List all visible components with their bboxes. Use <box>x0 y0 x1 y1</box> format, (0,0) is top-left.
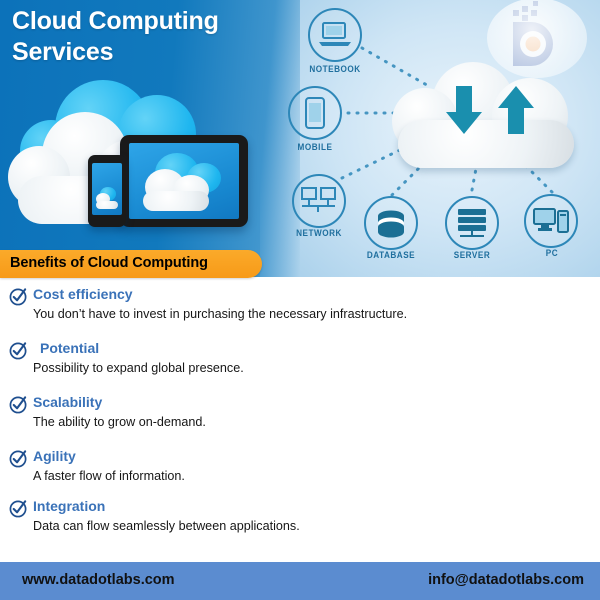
check-circle-icon <box>9 499 28 518</box>
mobile-label: MOBILE <box>268 142 363 153</box>
benefit-item: Potential Possibility to expand global p… <box>0 340 600 394</box>
cloud-sync-arrows-icon <box>446 84 536 146</box>
benefits-banner: Benefits of Cloud Computing <box>0 250 262 278</box>
benefit-title: Agility <box>0 448 600 464</box>
server-icon <box>455 208 489 240</box>
check-circle-icon <box>9 449 28 468</box>
laptop-icon <box>319 22 351 48</box>
central-cloud <box>392 62 588 172</box>
footer-email-link[interactable]: info@datadotlabs.com <box>428 572 584 588</box>
benefit-item: Integration Data can flow seamlessly bet… <box>0 498 600 548</box>
pc-node-circle <box>524 194 578 248</box>
benefit-description: Possibility to expand global presence. <box>0 356 600 377</box>
check-circle-icon <box>9 287 28 306</box>
server-node-circle <box>445 196 499 250</box>
benefit-title: Integration <box>0 498 600 514</box>
infographic-poster: Cloud Computing Services <box>0 0 600 600</box>
notebook-label: NOTEBOOK <box>288 64 383 75</box>
network-node-circle <box>292 174 346 228</box>
benefit-description: Data can flow seamlessly between applica… <box>0 514 600 535</box>
smartphone-icon <box>304 97 326 129</box>
benefit-title: Cost efficiency <box>0 286 600 302</box>
network-icon <box>300 187 338 217</box>
benefit-title: Potential <box>0 340 600 356</box>
mobile-node-circle <box>288 86 342 140</box>
benefits-list: Cost efficiency You don’t have to invest… <box>0 286 600 548</box>
footer-bar: www.datadotlabs.com info@datadotlabs.com <box>0 562 600 600</box>
benefit-description: A faster flow of information. <box>0 464 600 485</box>
benefits-banner-label: Benefits of Cloud Computing <box>10 255 208 271</box>
benefit-item: Cost efficiency You don’t have to invest… <box>0 286 600 340</box>
notebook-node-circle <box>308 8 362 62</box>
check-circle-icon <box>9 341 28 360</box>
network-label: NETWORK <box>272 228 367 239</box>
benefit-item: Scalability The ability to grow on-deman… <box>0 394 600 448</box>
benefit-title: Scalability <box>0 394 600 410</box>
hero-section: Cloud Computing Services <box>0 0 600 277</box>
check-circle-icon <box>9 395 28 414</box>
footer-website-link[interactable]: www.datadotlabs.com <box>22 572 175 588</box>
benefit-description: The ability to grow on-demand. <box>0 410 600 431</box>
pc-label: PC <box>505 248 600 259</box>
database-icon <box>375 209 407 239</box>
desktop-pc-icon <box>533 207 569 237</box>
benefit-description: You don’t have to invest in purchasing t… <box>0 302 600 323</box>
database-node-circle <box>364 196 418 250</box>
benefit-item: Agility A faster flow of information. <box>0 448 600 498</box>
